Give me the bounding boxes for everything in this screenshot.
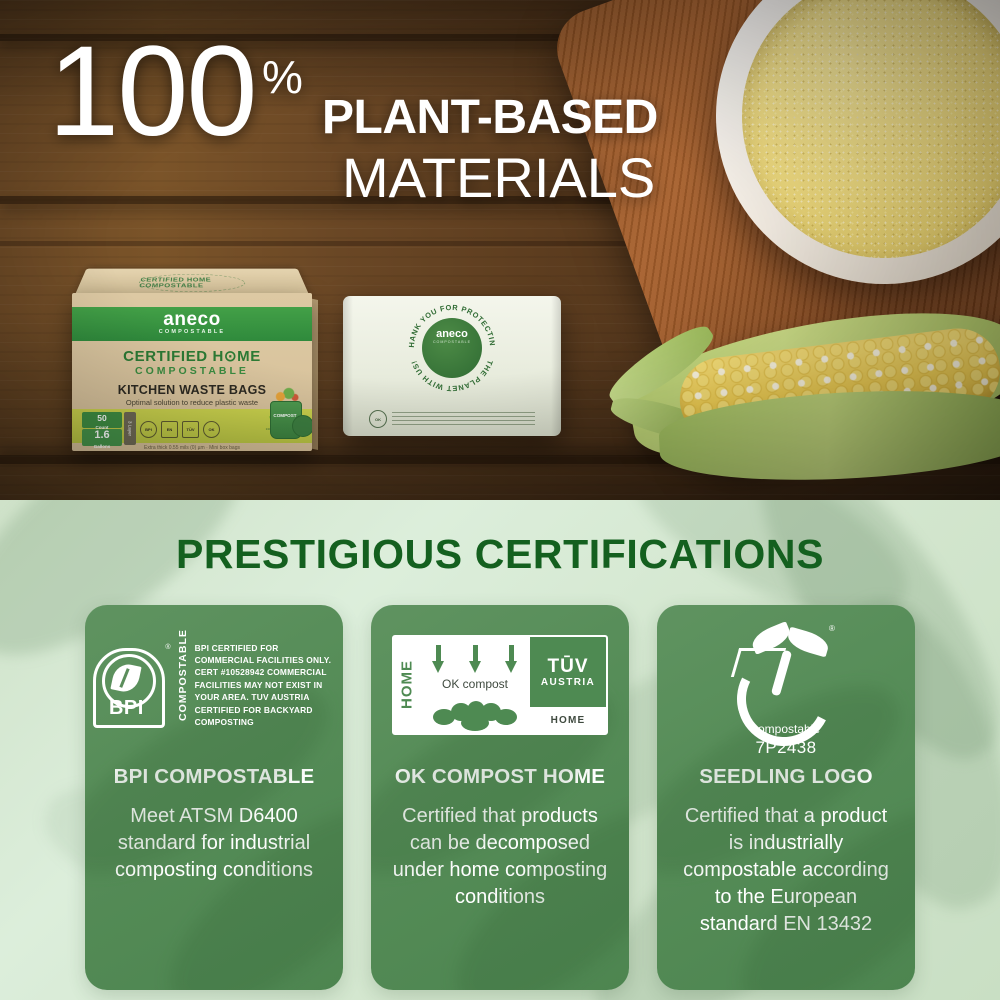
seedling-logo-icon: ® compostable 7P2438 bbox=[721, 626, 851, 744]
tuv-austria-panel: TŪV AUSTRIA HOME bbox=[530, 637, 606, 733]
certification-card-seedling: ® compostable 7P2438 SEEDLING LOGO Certi… bbox=[657, 605, 915, 990]
tuv-mode-home: HOME bbox=[530, 707, 606, 733]
flower-icon bbox=[433, 701, 517, 731]
tuv-brand: TŪV bbox=[548, 657, 589, 676]
ok-compost-logo-area: HOME OK compost bbox=[371, 605, 629, 765]
bpi-logo-word: BPI bbox=[93, 697, 159, 720]
section-heading: PRESTIGIOUS CERTIFICATIONS bbox=[0, 531, 1000, 578]
tuv-brand-sub: AUSTRIA bbox=[541, 677, 595, 688]
hero-photo: CERTIFIED HOME COMPOSTABLE aneco COMPOST… bbox=[0, 0, 1000, 500]
tuv-badge: TŪV AUSTRIA bbox=[530, 637, 606, 707]
certifications-panel: PRESTIGIOUS CERTIFICATIONS BPI ® COMPOST… bbox=[0, 500, 1000, 1000]
seedling-word: compostable bbox=[721, 722, 851, 736]
infographic-page: CERTIFIED HOME COMPOSTABLE aneco COMPOST… bbox=[0, 0, 1000, 1000]
hero-line-light: MATERIALS bbox=[342, 150, 655, 206]
hero-percent-sign: % bbox=[262, 54, 303, 100]
bpi-compostable-logo-icon: BPI ® COMPOSTABLE BPI CERTIFIED FOR COMM… bbox=[93, 642, 334, 729]
seedling-logo-area: ® compostable 7P2438 bbox=[657, 605, 915, 765]
certification-cards: BPI ® COMPOSTABLE BPI CERTIFIED FOR COMM… bbox=[85, 605, 915, 990]
bpi-logo-vertical-word: COMPOSTABLE bbox=[177, 649, 189, 721]
bpi-logo-area: BPI ® COMPOSTABLE BPI CERTIFIED FOR COMM… bbox=[85, 605, 343, 765]
bpi-mark: BPI bbox=[93, 648, 159, 722]
hero-line-bold: PLANT-BASED bbox=[322, 94, 658, 142]
ok-compost-home-logo-icon: HOME OK compost bbox=[392, 635, 608, 735]
ok-compost-label: OK compost bbox=[420, 677, 530, 691]
seedling-code: 7P2438 bbox=[721, 738, 851, 758]
bpi-fine-print: BPI CERTIFIED FOR COMMERCIAL FACILITIES … bbox=[195, 642, 335, 729]
ok-logo-middle: OK compost bbox=[420, 637, 530, 733]
registered-mark: ® bbox=[165, 644, 170, 651]
ok-logo-vertical-home: HOME bbox=[394, 637, 420, 733]
down-arrows-icon bbox=[432, 645, 518, 675]
certification-card-ok-compost-home: HOME OK compost bbox=[371, 605, 629, 990]
certification-card-bpi: BPI ® COMPOSTABLE BPI CERTIFIED FOR COMM… bbox=[85, 605, 343, 990]
hero-number: 100 bbox=[48, 28, 256, 156]
registered-mark: ® bbox=[829, 624, 835, 633]
